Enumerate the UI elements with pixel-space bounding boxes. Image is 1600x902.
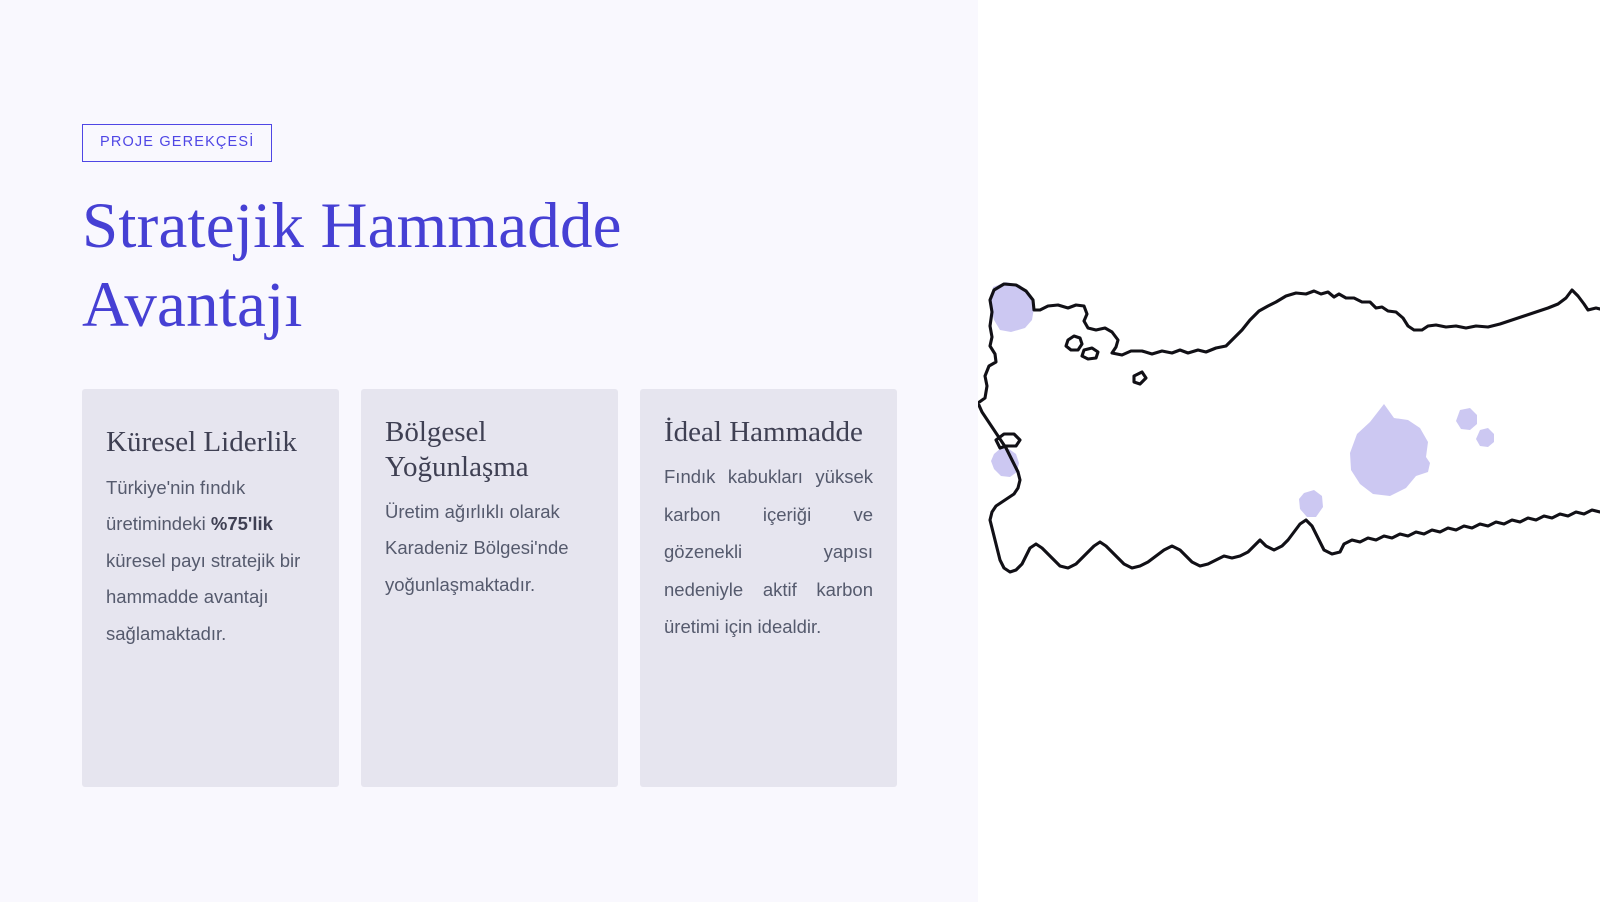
east-small-region-b (1476, 428, 1494, 447)
card-title: İdeal Hammadde (664, 415, 873, 450)
south-central-region (1299, 490, 1323, 517)
left-content-panel: PROJE GEREKÇESİ Stratejik Hammadde Avant… (0, 0, 978, 902)
east-small-region-a (1456, 408, 1477, 430)
card-body: Türkiye'nin fındık üretimindeki %75'lik … (106, 470, 315, 653)
iznik-lake-detail (1082, 348, 1098, 359)
card-kuresel-liderlik: Küresel Liderlik Türkiye'nin fındık üret… (82, 389, 339, 787)
content-column: PROJE GEREKÇESİ Stratejik Hammadde Avant… (82, 124, 912, 787)
card-title: Küresel Liderlik (106, 415, 315, 470)
map-outline-icon (978, 258, 1600, 588)
central-east-region (1350, 404, 1430, 496)
card-body: Üretim ağırlıklı olarak Karadeniz Bölges… (385, 494, 594, 604)
card-bolgesel-yogunlasma: Bölgesel Yoğunlaşma Üretim ağırlıklı ola… (361, 389, 618, 787)
marmara-sea-detail (1066, 336, 1082, 350)
map-panel (978, 0, 1600, 902)
map-highlight-group (990, 282, 1494, 517)
eyebrow-badge: PROJE GEREKÇESİ (82, 124, 272, 162)
cards-row: Küresel Liderlik Türkiye'nin fındık üret… (82, 389, 912, 787)
turkey-mainland-outline (978, 284, 1600, 572)
card-body: Fındık kabukları yüksek karbon içeriği v… (664, 458, 873, 645)
card-title: Bölgesel Yoğunlaşma (385, 415, 594, 486)
card-body-highlight: %75'lik (211, 513, 273, 534)
card-ideal-hammadde: İdeal Hammadde Fındık kabukları yüksek k… (640, 389, 897, 787)
turkey-map (978, 258, 1600, 588)
slide-stage: PROJE GEREKÇESİ Stratejik Hammadde Avant… (0, 0, 1600, 902)
card-body-text-after: küresel payı stratejik bir hammadde avan… (106, 550, 300, 644)
small-bay-detail (1134, 372, 1146, 384)
page-title: Stratejik Hammadde Avantajı (82, 187, 762, 346)
